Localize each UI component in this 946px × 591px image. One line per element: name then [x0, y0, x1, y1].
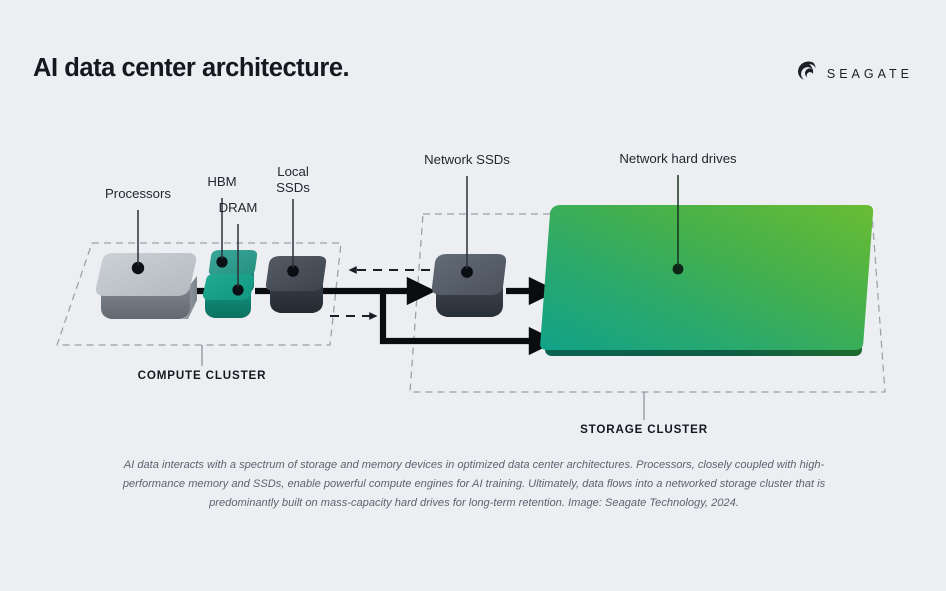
local-ssds-block	[266, 199, 326, 313]
callout-dram: DRAM	[219, 200, 258, 216]
callout-processors: Processors	[105, 186, 171, 202]
callout-network-ssds: Network SSDs	[424, 152, 510, 168]
figure-caption: AI data interacts with a spectrum of sto…	[113, 456, 835, 513]
processors-block	[96, 210, 197, 319]
storage-cluster-label: STORAGE CLUSTER	[580, 423, 708, 436]
network-ssds-block	[432, 176, 506, 317]
compute-cluster-label: COMPUTE CLUSTER	[138, 369, 267, 382]
network-hard-drives-slab	[540, 175, 874, 356]
callout-hbm: HBM	[207, 174, 236, 190]
callout-network-hard-drives: Network hard drives	[619, 151, 736, 167]
callout-local-ssds: Local SSDs	[276, 164, 310, 196]
infographic-canvas: AI data center architecture. SEAGATE	[0, 0, 946, 591]
